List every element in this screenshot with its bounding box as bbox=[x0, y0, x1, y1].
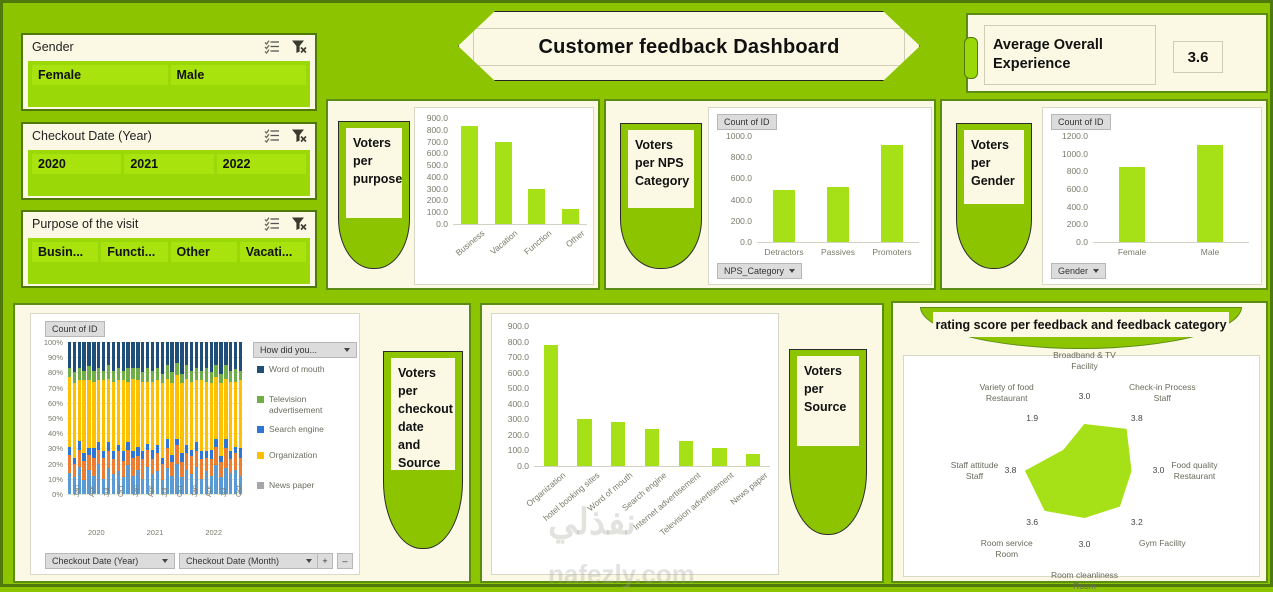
legend-item: Word of mouth bbox=[257, 364, 357, 375]
stack-segment bbox=[117, 368, 120, 380]
bar-0 bbox=[1119, 167, 1146, 242]
stack-segment bbox=[200, 479, 203, 494]
stack-segment bbox=[214, 447, 217, 465]
slicer-year-items[interactable]: 2020 2021 2022 bbox=[28, 150, 310, 196]
slicer-gender[interactable]: Gender Female Male bbox=[21, 33, 317, 111]
card-label-box: Voters per checkout date and Source bbox=[391, 358, 455, 470]
radar-category-label: Room cleanlinessRoom bbox=[1025, 570, 1145, 592]
legend-item: Search engine bbox=[257, 424, 357, 435]
clear-filter-icon[interactable] bbox=[291, 128, 307, 143]
stack-segment bbox=[146, 382, 149, 444]
stack-segment bbox=[195, 380, 198, 442]
y-axis-tick: 10% bbox=[33, 475, 63, 484]
card-label-voters-per-checkout-date-and-source: Voters per checkout date and Source bbox=[383, 351, 463, 549]
stack-segment bbox=[126, 442, 129, 450]
slicer-purpose-of-visit[interactable]: Purpose of the visit Busin... Functi... bbox=[21, 210, 317, 288]
stack-segment bbox=[82, 461, 85, 481]
stack-segment bbox=[200, 459, 203, 479]
stack-segment bbox=[107, 342, 110, 365]
bar-0 bbox=[773, 190, 796, 242]
field-button-how-did-you[interactable]: How did you... bbox=[253, 342, 357, 358]
x-axis-tick: Promoters bbox=[852, 247, 932, 257]
stack-segment bbox=[239, 458, 242, 476]
y-axis-tick: 0% bbox=[33, 490, 63, 499]
stacked-column bbox=[73, 342, 76, 494]
stack-segment bbox=[107, 365, 110, 379]
stack-segment bbox=[82, 371, 85, 380]
stack-segment bbox=[156, 380, 159, 445]
stacked-column bbox=[126, 342, 129, 494]
radar-value-label: 3.8 bbox=[1127, 413, 1147, 423]
stack-segment bbox=[131, 458, 134, 476]
stack-segment bbox=[210, 372, 213, 383]
stack-segment bbox=[151, 459, 154, 474]
slicer-gender-items[interactable]: Female Male bbox=[28, 61, 310, 107]
stack-segment bbox=[205, 458, 208, 472]
stack-segment bbox=[205, 382, 208, 452]
bar-1 bbox=[495, 142, 512, 224]
stack-segment bbox=[92, 448, 95, 457]
stack-segment bbox=[190, 456, 193, 474]
zoom-out-button[interactable]: – bbox=[337, 553, 353, 569]
stack-segment bbox=[141, 342, 144, 372]
y-axis-tick: 800.0 bbox=[709, 152, 752, 162]
stack-segment bbox=[141, 382, 144, 452]
stack-segment bbox=[234, 369, 237, 381]
slicer-year-title: Checkout Date (Year) bbox=[32, 129, 152, 143]
stack-segment bbox=[205, 368, 208, 382]
stack-segment bbox=[112, 451, 115, 459]
clear-filter-icon[interactable] bbox=[291, 39, 307, 54]
stacked-column bbox=[229, 342, 232, 494]
x-axis-month-tick: Oct bbox=[175, 485, 184, 497]
radar-value-label: 3.0 bbox=[1075, 539, 1095, 549]
slicer-gender-icons[interactable] bbox=[264, 39, 307, 54]
stack-segment bbox=[97, 342, 100, 368]
stacked-column bbox=[136, 342, 139, 494]
panel-voters-per-purpose: Voters per purpose 0.0100.0200.0300.0400… bbox=[326, 99, 600, 290]
stack-segment bbox=[156, 342, 159, 368]
panel-voters-per-checkout-date-and-source: Count of ID 0%10%20%30%40%50%60%70%80%90… bbox=[13, 303, 471, 583]
y-axis-tick: 100.0 bbox=[492, 445, 529, 455]
slicer-item-male[interactable]: Male bbox=[171, 65, 307, 85]
clear-filter-icon[interactable] bbox=[291, 216, 307, 231]
field-button-nps-category[interactable]: NPS_Category bbox=[717, 263, 802, 279]
page-title: Customer feedback Dashboard bbox=[538, 36, 839, 59]
stack-segment bbox=[180, 453, 183, 462]
stack-segment bbox=[195, 342, 198, 368]
card-label-box: Voters per purpose bbox=[346, 128, 402, 218]
legend-swatch bbox=[257, 366, 264, 373]
stack-segment bbox=[219, 462, 222, 477]
x-axis-tick: Vacation bbox=[488, 228, 519, 257]
stack-segment bbox=[68, 447, 71, 455]
stack-segment bbox=[210, 383, 213, 450]
stack-segment bbox=[166, 342, 169, 365]
y-axis-tick: 80% bbox=[33, 368, 63, 377]
stacked-column bbox=[82, 342, 85, 494]
y-axis-tick: 20% bbox=[33, 460, 63, 469]
slicer-purpose-items[interactable]: Busin... Functi... Other Vacati... bbox=[28, 238, 310, 284]
y-axis-tick: 800.0 bbox=[1043, 166, 1088, 176]
x-axis-tick: Male bbox=[1170, 247, 1250, 257]
stack-segment bbox=[180, 462, 183, 477]
radar-value-label: 3.0 bbox=[1149, 465, 1169, 475]
stack-segment bbox=[229, 459, 232, 473]
stacked-column bbox=[112, 342, 115, 494]
y-axis-tick: 400.0 bbox=[415, 172, 448, 182]
slicer-item-female[interactable]: Female bbox=[32, 65, 168, 85]
radar-value-label: 3.8 bbox=[1001, 465, 1021, 475]
chart-voters-per-purpose[interactable]: 0.0100.0200.0300.0400.0500.0600.0700.080… bbox=[414, 107, 594, 285]
stack-segment bbox=[166, 365, 169, 379]
slicer-gender-header: Gender bbox=[23, 35, 315, 61]
stack-segment bbox=[126, 382, 129, 443]
x-axis-tick: News paper bbox=[728, 470, 769, 507]
panel-voters-per-gender: Voters per Gender Count of ID 0.0200.040… bbox=[940, 99, 1268, 290]
y-axis-tick: 800.0 bbox=[492, 337, 529, 347]
x-axis-month-tick: Jan bbox=[72, 485, 81, 497]
zoom-in-button[interactable]: + bbox=[317, 553, 333, 569]
y-axis-tick: 90% bbox=[33, 353, 63, 362]
stacked-column bbox=[239, 342, 242, 494]
chevron-down-icon[interactable] bbox=[789, 269, 795, 273]
stack-segment bbox=[185, 453, 188, 470]
slicer-purpose-icons[interactable] bbox=[264, 216, 307, 231]
stack-segment bbox=[78, 368, 81, 380]
card-label-box: Voters per Gender bbox=[964, 130, 1024, 204]
slicer-item-2020[interactable]: 2020 bbox=[32, 154, 121, 174]
stack-segment bbox=[122, 451, 125, 460]
stack-segment bbox=[126, 342, 129, 368]
bar-0 bbox=[544, 345, 558, 466]
stack-segment bbox=[185, 445, 188, 453]
stack-segment bbox=[185, 365, 188, 379]
stack-segment bbox=[82, 380, 85, 453]
y-axis-tick: 0.0 bbox=[492, 461, 529, 471]
dashboard-root: Customer feedback Dashboard Average Over… bbox=[0, 0, 1273, 587]
stack-segment bbox=[136, 342, 139, 368]
bar-0 bbox=[461, 126, 478, 224]
stack-segment bbox=[126, 368, 129, 382]
y-axis-tick: 1200.0 bbox=[1043, 131, 1088, 141]
chart-rating-score-radar[interactable]: Broadband & TVFacility3.0Check-in Proces… bbox=[903, 355, 1260, 577]
y-axis-tick: 500.0 bbox=[415, 160, 448, 170]
panel-rating-score-radar: rating score per feedback and feedback c… bbox=[891, 301, 1268, 583]
y-axis-tick: 0.0 bbox=[709, 237, 752, 247]
stack-segment bbox=[229, 342, 232, 371]
slicer-item-2022[interactable]: 2022 bbox=[217, 154, 306, 174]
slicer-item-business[interactable]: Busin... bbox=[32, 242, 98, 262]
stack-segment bbox=[156, 471, 159, 494]
radar-category-label: Variety of foodRestaurant bbox=[947, 382, 1067, 404]
chevron-down-icon[interactable] bbox=[344, 348, 350, 352]
stack-segment bbox=[229, 451, 232, 459]
stack-segment bbox=[112, 459, 115, 474]
chevron-down-icon[interactable] bbox=[1093, 269, 1099, 273]
y-axis-tick: 500.0 bbox=[492, 383, 529, 393]
stacked-column bbox=[97, 342, 100, 494]
stack-segment bbox=[239, 371, 242, 380]
stacked-column bbox=[210, 342, 213, 494]
stack-segment bbox=[141, 479, 144, 494]
stacked-column bbox=[224, 342, 227, 494]
field-button-count-of-id[interactable]: Count of ID bbox=[45, 321, 105, 337]
bar-1 bbox=[1197, 145, 1224, 242]
stack-segment bbox=[156, 368, 159, 380]
stack-segment bbox=[92, 342, 95, 371]
stack-segment bbox=[78, 342, 81, 368]
stack-segment bbox=[214, 365, 217, 377]
card-label-box: Voters per NPS Category bbox=[628, 130, 694, 208]
stack-segment bbox=[200, 451, 203, 459]
legend-swatch bbox=[257, 452, 264, 459]
bar-5 bbox=[712, 448, 726, 466]
stack-segment bbox=[68, 342, 71, 368]
radar-title-inner: rating score per feedback and feedback c… bbox=[933, 312, 1229, 337]
stack-segment bbox=[117, 451, 120, 471]
stack-segment bbox=[117, 380, 120, 445]
stack-segment bbox=[122, 371, 125, 380]
chevron-down-icon[interactable] bbox=[306, 559, 312, 563]
y-axis-tick: 900.0 bbox=[492, 321, 529, 331]
stacked-column bbox=[156, 342, 159, 494]
legend-item: News paper bbox=[257, 480, 357, 491]
slicer-year-icons[interactable] bbox=[264, 128, 307, 143]
stacked-column bbox=[170, 342, 173, 494]
stack-segment bbox=[92, 371, 95, 382]
stacked-column bbox=[87, 342, 90, 494]
bar-3 bbox=[645, 429, 659, 466]
legend-swatch bbox=[257, 426, 264, 433]
stacked-column bbox=[151, 342, 154, 494]
field-button-checkout-month[interactable]: Checkout Date (Month) bbox=[179, 553, 319, 569]
chart-legend: How did you... Word of mouthTelevision a… bbox=[253, 342, 361, 532]
stacked-column bbox=[117, 342, 120, 494]
stack-segment bbox=[239, 342, 242, 371]
stack-segment bbox=[170, 462, 173, 476]
bar-3 bbox=[562, 209, 579, 224]
y-axis-tick: 400.0 bbox=[709, 195, 752, 205]
stack-segment bbox=[97, 464, 100, 494]
stack-segment bbox=[170, 342, 173, 372]
stack-segment bbox=[73, 342, 76, 372]
stack-segment bbox=[190, 371, 193, 382]
slicer-item-vacation[interactable]: Vacati... bbox=[240, 242, 306, 262]
multi-select-icon[interactable] bbox=[264, 39, 280, 54]
stack-segment bbox=[141, 459, 144, 479]
y-axis-tick: 200.0 bbox=[1043, 219, 1088, 229]
stack-segment bbox=[126, 450, 129, 465]
stack-segment bbox=[161, 374, 164, 383]
card-label-voters-per-gender: Voters per Gender bbox=[956, 123, 1032, 269]
stack-segment bbox=[87, 380, 90, 448]
panel-voters-per-nps: Voters per NPS Category Count of ID 0.02… bbox=[604, 99, 936, 290]
bar-4 bbox=[679, 441, 693, 466]
stack-segment bbox=[156, 445, 159, 453]
x-axis-month-tick: Apr bbox=[146, 485, 155, 497]
slicer-item-2021[interactable]: 2021 bbox=[124, 154, 213, 174]
y-axis-tick: 700.0 bbox=[415, 137, 448, 147]
y-axis-tick: 100.0 bbox=[415, 207, 448, 217]
stack-segment bbox=[180, 342, 183, 374]
stack-segment bbox=[122, 461, 125, 478]
stack-segment bbox=[234, 382, 237, 447]
stack-segment bbox=[214, 342, 217, 365]
stack-segment bbox=[112, 382, 115, 452]
stack-segment bbox=[195, 442, 198, 451]
slicer-item-other[interactable]: Other bbox=[171, 242, 237, 262]
stack-segment bbox=[190, 382, 193, 450]
stack-segment bbox=[136, 447, 139, 456]
stacked-column bbox=[214, 342, 217, 494]
card-label-text: Voters per checkout date and Source bbox=[398, 366, 453, 470]
y-axis-tick: 600.0 bbox=[709, 173, 752, 183]
card-tab-decoration bbox=[964, 37, 978, 79]
stacked-column bbox=[146, 342, 149, 494]
y-axis-tick: 1000.0 bbox=[709, 131, 752, 141]
x-axis-month-tick: Oct bbox=[116, 485, 125, 497]
stack-segment bbox=[224, 365, 227, 379]
legend-label: Search engine bbox=[269, 424, 324, 435]
stack-segment bbox=[214, 465, 217, 494]
y-axis-tick: 600.0 bbox=[415, 148, 448, 158]
stack-segment bbox=[229, 382, 232, 452]
card-label-text: Voters per Source bbox=[804, 364, 846, 414]
x-axis-month-tick: Apr bbox=[204, 485, 213, 497]
stack-segment bbox=[239, 380, 242, 448]
bar-6 bbox=[746, 454, 760, 466]
y-axis-tick: 400.0 bbox=[492, 399, 529, 409]
stack-segment bbox=[190, 342, 193, 371]
slicer-gender-title: Gender bbox=[32, 40, 74, 54]
slicer-item-function[interactable]: Functi... bbox=[101, 242, 167, 262]
stack-segment bbox=[161, 342, 164, 374]
stack-segment bbox=[219, 342, 222, 374]
stack-segment bbox=[102, 342, 105, 371]
stacked-column bbox=[195, 342, 198, 494]
stack-segment bbox=[234, 342, 237, 369]
stack-segment bbox=[175, 342, 178, 363]
stack-segment bbox=[205, 342, 208, 368]
stack-segment bbox=[112, 371, 115, 382]
slicer-checkout-date-year[interactable]: Checkout Date (Year) 2020 2021 202 bbox=[21, 122, 317, 200]
stack-segment bbox=[146, 342, 149, 368]
stacked-column bbox=[131, 342, 134, 494]
stack-segment bbox=[68, 377, 71, 447]
x-axis-year-label: 2021 bbox=[126, 528, 185, 537]
stack-segment bbox=[185, 342, 188, 365]
y-axis-tick: 1000.0 bbox=[1043, 149, 1088, 159]
multi-select-icon[interactable] bbox=[264, 216, 280, 231]
stack-segment bbox=[161, 464, 164, 481]
stack-segment bbox=[224, 342, 227, 365]
bar-2 bbox=[611, 422, 625, 466]
stack-segment bbox=[73, 372, 76, 383]
legend-swatch bbox=[257, 482, 264, 489]
stack-segment bbox=[92, 458, 95, 476]
stack-segment bbox=[102, 371, 105, 380]
stack-segment bbox=[175, 375, 178, 439]
slicer-year-header: Checkout Date (Year) bbox=[23, 124, 315, 150]
stack-segment bbox=[180, 383, 183, 453]
stack-segment bbox=[156, 453, 159, 471]
stacked-column bbox=[166, 342, 169, 494]
dashboard-title-banner: Customer feedback Dashboard bbox=[458, 11, 920, 81]
chart-voters-per-source[interactable]: 0.0100.0200.0300.0400.0500.0600.0700.080… bbox=[491, 313, 779, 575]
stack-segment bbox=[112, 342, 115, 371]
field-button-checkout-year[interactable]: Checkout Date (Year) bbox=[45, 553, 175, 569]
stacked-column bbox=[205, 342, 208, 494]
legend-item: Organization bbox=[257, 450, 357, 461]
legend-label: Word of mouth bbox=[269, 364, 325, 375]
multi-select-icon[interactable] bbox=[264, 128, 280, 143]
stack-segment bbox=[195, 368, 198, 380]
stack-segment bbox=[107, 379, 110, 443]
stacked-column bbox=[234, 342, 237, 494]
stack-segment bbox=[73, 383, 76, 457]
x-axis-month-tick: Jan bbox=[131, 485, 140, 497]
stacked-column bbox=[161, 342, 164, 494]
bar-1 bbox=[827, 187, 850, 242]
stacked-column bbox=[92, 342, 95, 494]
stacked-column bbox=[190, 342, 193, 494]
chart-voters-per-checkout-date-and-source[interactable]: Count of ID 0%10%20%30%40%50%60%70%80%90… bbox=[30, 313, 360, 575]
card-label-box: Voters per Source bbox=[797, 356, 859, 446]
stack-segment bbox=[224, 448, 227, 468]
stack-segment bbox=[146, 368, 149, 382]
x-axis-line bbox=[453, 224, 587, 225]
stack-segment bbox=[73, 464, 76, 478]
chevron-down-icon[interactable] bbox=[162, 559, 168, 563]
y-axis-tick: 600.0 bbox=[1043, 184, 1088, 194]
stack-segment bbox=[200, 342, 203, 371]
y-axis-tick: 60% bbox=[33, 399, 63, 408]
stacked-column bbox=[68, 342, 71, 494]
average-overall-experience-card: Average Overall Experience 3.6 bbox=[966, 13, 1268, 93]
bar-2 bbox=[881, 145, 904, 242]
legend-item: Television advertisement bbox=[257, 394, 357, 416]
radar-category-label: Room serviceRoom bbox=[947, 538, 1067, 560]
field-button-label: Checkout Date (Year) bbox=[52, 556, 138, 566]
stack-segment bbox=[141, 451, 144, 459]
legend-label: News paper bbox=[269, 480, 314, 491]
slicer-purpose-title: Purpose of the visit bbox=[32, 217, 138, 231]
stack-segment bbox=[166, 379, 169, 440]
chart-voters-per-nps[interactable]: Count of ID 0.0200.0400.0600.0800.01000.… bbox=[708, 107, 932, 285]
stacked-column bbox=[219, 342, 222, 494]
card-label-voters-per-nps: Voters per NPS Category bbox=[620, 123, 702, 269]
stack-segment bbox=[151, 371, 154, 382]
stack-segment bbox=[146, 450, 149, 467]
stack-segment bbox=[107, 451, 110, 468]
x-axis-month-tick: Jul bbox=[102, 487, 111, 497]
stack-segment bbox=[151, 450, 154, 459]
stack-segment bbox=[180, 374, 183, 383]
legend-label: Television advertisement bbox=[269, 394, 357, 416]
chart-voters-per-gender[interactable]: Count of ID 0.0200.0400.0600.0800.01000.… bbox=[1042, 107, 1262, 285]
field-button-gender[interactable]: Gender bbox=[1051, 263, 1106, 279]
kpi-value: 3.6 bbox=[1173, 41, 1223, 73]
stack-segment bbox=[210, 450, 213, 459]
stack-segment bbox=[78, 441, 81, 450]
stack-segment bbox=[97, 442, 100, 450]
stack-segment bbox=[210, 459, 213, 476]
x-axis-tick: Function bbox=[522, 228, 553, 257]
radar-title-banner: rating score per feedback and feedback c… bbox=[920, 307, 1242, 349]
field-button-label: How did you... bbox=[260, 345, 317, 355]
stack-segment bbox=[126, 465, 129, 494]
